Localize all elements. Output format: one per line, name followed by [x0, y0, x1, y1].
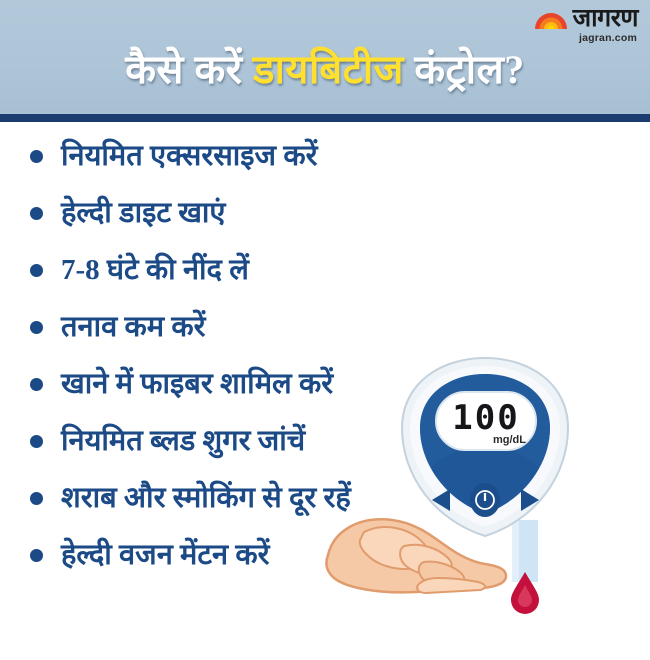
list-item-label: हेल्दी डाइट खाएं: [61, 198, 225, 230]
glucometer-device: 100 mg/dL: [402, 358, 568, 536]
bullet-icon: [30, 378, 43, 391]
bullet-icon: [30, 321, 43, 334]
glucose-unit: mg/dL: [493, 434, 526, 446]
bullet-icon: [30, 150, 43, 163]
list-item-label: खाने में फाइबर शामिल करें: [61, 369, 333, 401]
list-item-label: हेल्दी वजन मेंटन करें: [61, 540, 269, 572]
glucometer-illustration: 100 mg/dL: [320, 350, 650, 660]
logo-brand-text: जागरण: [573, 6, 638, 31]
list-item-label: तनाव कम करें: [61, 312, 206, 344]
power-button: [470, 483, 500, 517]
jagran-logo[interactable]: जागरण jagran.com: [534, 6, 638, 44]
list-item: हेल्दी डाइट खाएं: [0, 185, 650, 242]
title-highlight: डायबिटीज: [253, 47, 404, 92]
logo-row: जागरण: [534, 6, 638, 31]
list-item-label: नियमित ब्लड शुगर जांचें: [61, 426, 305, 458]
list-item-label: नियमित एक्सरसाइज करें: [61, 141, 317, 173]
list-item: तनाव कम करें: [0, 299, 650, 356]
title-part-before: कैसे करें: [125, 47, 253, 92]
title-part-after: कंट्रोल?: [404, 47, 525, 92]
bullet-icon: [30, 435, 43, 448]
logo-domain-text: jagran.com: [579, 32, 637, 44]
bullet-icon: [30, 264, 43, 277]
bullet-icon: [30, 492, 43, 505]
list-item: नियमित एक्सरसाइज करें: [0, 128, 650, 185]
glucose-reading: 100: [452, 398, 519, 438]
list-item-label: 7-8 घंटे की नींद लें: [61, 255, 249, 287]
list-item-label: शराब और स्मोकिंग से दूर रहें: [61, 483, 351, 515]
bullet-icon: [30, 207, 43, 220]
header-banner: जागरण jagran.com कैसे करें डायबिटीज कंट्…: [0, 0, 650, 114]
page-title: कैसे करें डायबिटीज कंट्रोल?: [0, 48, 650, 92]
bullet-icon: [30, 549, 43, 562]
list-item: 7-8 घंटे की नींद लें: [0, 242, 650, 299]
infographic-poster: जागरण jagran.com कैसे करें डायबिटीज कंट्…: [0, 0, 650, 660]
sunrise-arc-icon: [534, 8, 568, 30]
header-divider: [0, 114, 650, 122]
